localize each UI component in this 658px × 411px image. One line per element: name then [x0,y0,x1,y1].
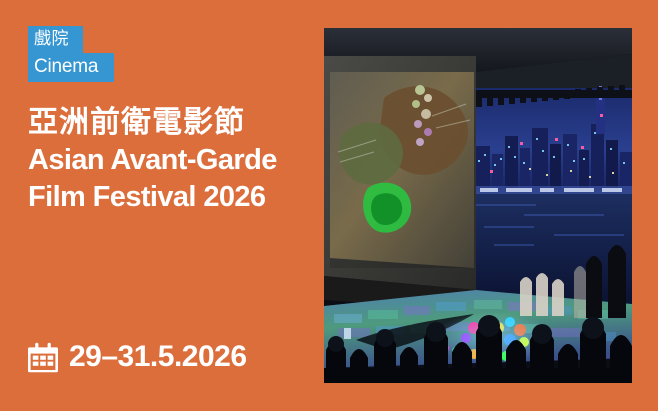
festival-poster: 戲院 Cinema 亞洲前衛電影節 Asian Avant-Garde Film… [0,0,658,411]
festival-photo [324,28,632,383]
title-english-line-2: Film Festival 2026 [28,179,318,216]
title-chinese: 亞洲前衛電影節 [28,104,318,142]
cinema-badge: 戲院 Cinema [28,26,114,82]
event-date-row: 29–31.5.2026 [28,340,247,374]
festival-photo-illustration [324,28,632,383]
event-date-text: 29–31.5.2026 [69,340,247,374]
badge-label-zh: 戲院 [34,28,69,50]
page-title: 亞洲前衛電影節 Asian Avant-Garde Film Festival … [28,104,318,216]
badge-label-en: Cinema [34,54,98,80]
left-content-column: 戲院 Cinema 亞洲前衛電影節 Asian Avant-Garde Film… [28,0,313,411]
calendar-icon [28,342,58,373]
title-english-line-1: Asian Avant-Garde [28,142,318,179]
